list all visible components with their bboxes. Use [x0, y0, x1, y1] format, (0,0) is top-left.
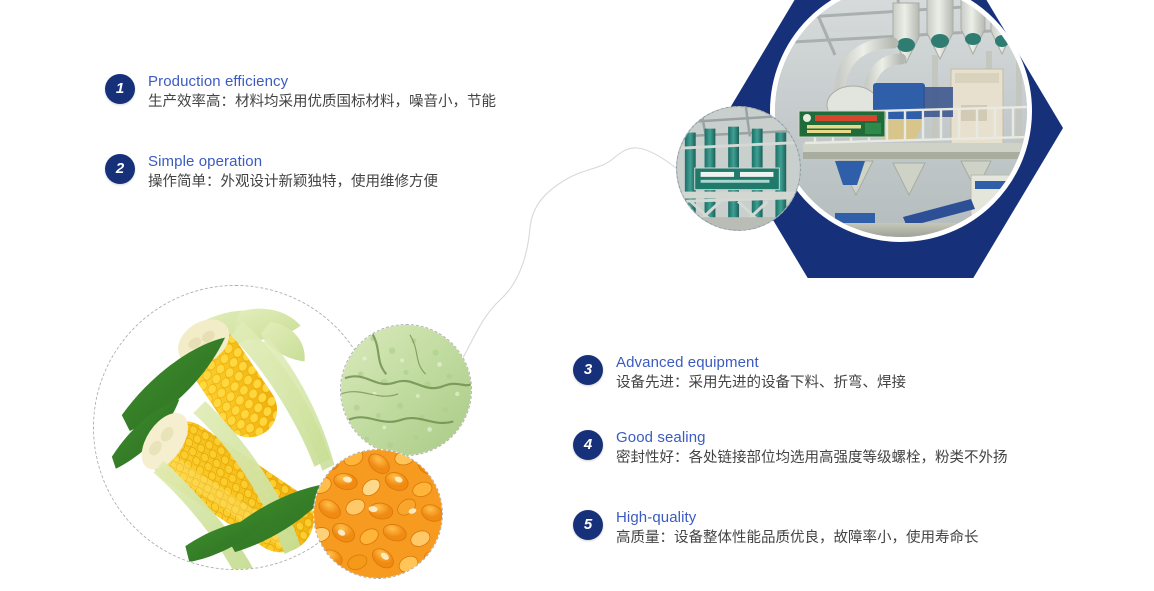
feature-desc-1: 生产效率高：材料均采用优质国标材料，噪音小，节能: [148, 92, 496, 113]
feature-item-4[interactable]: 4 Good sealing 密封性好：各处链接部位均选用高强度等级螺栓，粉类不…: [573, 428, 1008, 469]
feature-item-2[interactable]: 2 Simple operation 操作简单：外观设计新颖独特，使用维修方便: [105, 152, 438, 193]
feature-badge-2: 2: [105, 154, 135, 184]
feature-badge-4: 4: [573, 430, 603, 460]
feature-text-3: Advanced equipment 设备先进：采用先进的设备下料、折弯、焊接: [616, 353, 906, 394]
feature-title-2: Simple operation: [148, 152, 438, 171]
feature-text-1: Production efficiency 生产效率高：材料均采用优质国标材料，…: [148, 72, 496, 113]
feature-text-2: Simple operation 操作简单：外观设计新颖独特，使用维修方便: [148, 152, 438, 193]
corn-kernels-photo: [313, 449, 443, 579]
feature-desc-5: 高质量：设备整体性能品质优良，故障率小，使用寿命长: [616, 528, 979, 549]
feature-item-1[interactable]: 1 Production efficiency 生产效率高：材料均采用优质国标材…: [105, 72, 496, 113]
feature-item-5[interactable]: 5 High-quality 高质量：设备整体性能品质优良，故障率小，使用寿命长: [573, 508, 979, 549]
feature-item-3[interactable]: 3 Advanced equipment 设备先进：采用先进的设备下料、折弯、焊…: [573, 353, 906, 394]
feature-text-5: High-quality 高质量：设备整体性能品质优良，故障率小，使用寿命长: [616, 508, 979, 549]
feature-text-4: Good sealing 密封性好：各处链接部位均选用高强度等级螺栓，粉类不外扬: [616, 428, 1008, 469]
corn-image-group: [90, 282, 450, 591]
photo-banner: [799, 111, 885, 137]
machinery-image-group: [660, 0, 1080, 278]
feature-desc-2: 操作简单：外观设计新颖独特，使用维修方便: [148, 172, 438, 193]
infographic-canvas: 1 Production efficiency 生产效率高：材料均采用优质国标材…: [0, 0, 1154, 591]
feature-desc-4: 密封性好：各处链接部位均选用高强度等级螺栓，粉类不外扬: [616, 448, 1008, 469]
feature-title-5: High-quality: [616, 508, 979, 527]
feature-desc-3: 设备先进：采用先进的设备下料、折弯、焊接: [616, 373, 906, 394]
machine-large-photo: [775, 0, 1027, 237]
feature-title-3: Advanced equipment: [616, 353, 906, 372]
feature-badge-3: 3: [573, 355, 603, 385]
feature-badge-5: 5: [573, 510, 603, 540]
feature-title-4: Good sealing: [616, 428, 1008, 447]
feature-title-1: Production efficiency: [148, 72, 496, 91]
corn-green-paste-photo: [340, 324, 472, 456]
feature-badge-1: 1: [105, 74, 135, 104]
machine-small-photo: [676, 106, 801, 231]
